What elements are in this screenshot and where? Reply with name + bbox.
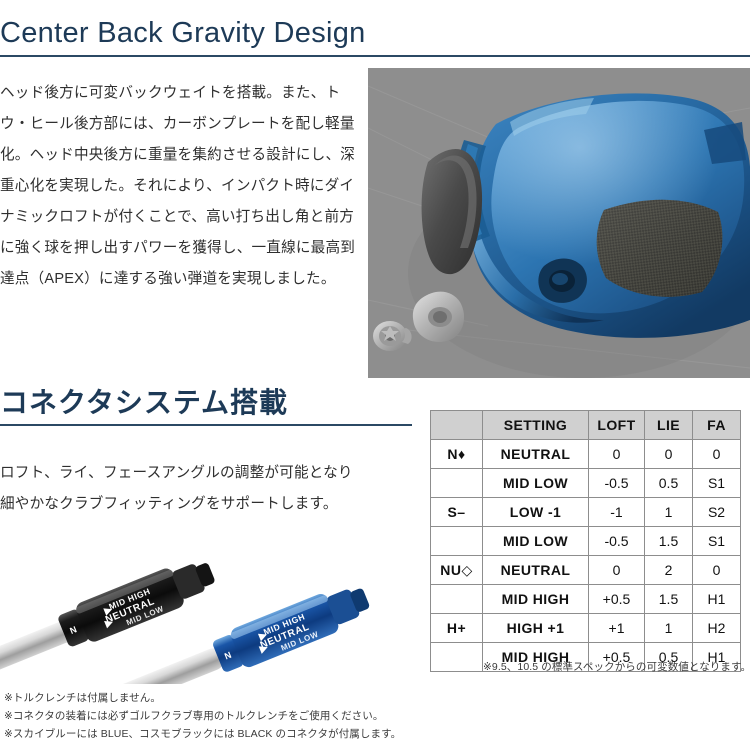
- header-fa: FA: [693, 411, 741, 440]
- cell-setting: NEUTRAL: [483, 556, 589, 585]
- heading-divider: [0, 424, 412, 426]
- footnote-item: ※コネクタの装着には必ずゴルフクラブ専用のトルクレンチをご使用ください。: [4, 707, 424, 725]
- cell-lie: 0.5: [645, 469, 693, 498]
- header-code: [431, 411, 483, 440]
- header-loft: LOFT: [589, 411, 645, 440]
- cell-fa: S1: [693, 527, 741, 556]
- table-row: H+ HIGH +1 +1 1 H2: [431, 614, 741, 643]
- cell-lie: 1.5: [645, 527, 693, 556]
- cell-loft: 0: [589, 556, 645, 585]
- footnote-item: ※トルクレンチは付属しません。: [4, 689, 424, 707]
- cell-loft: -0.5: [589, 527, 645, 556]
- cell-setting: LOW -1: [483, 498, 589, 527]
- cell-fa: S2: [693, 498, 741, 527]
- cell-code: [431, 585, 483, 614]
- connector-sleeves-image: MID HIGH NEUTRAL MID LOW N MID HIGH NEUT…: [0, 512, 420, 684]
- loft-lie-fa-spec-table: SETTING LOFT LIE FA N♦ NEUTRAL 0 0 0 MID…: [430, 410, 741, 672]
- page-title: Center Back Gravity Design: [0, 18, 750, 48]
- cell-setting: MID LOW: [483, 469, 589, 498]
- cell-code: NU◇: [431, 556, 483, 585]
- cell-fa: H1: [693, 585, 741, 614]
- connector-system-title: コネクタシステム搭載: [0, 388, 412, 417]
- cell-setting: MID HIGH: [483, 585, 589, 614]
- cell-loft: +0.5: [589, 585, 645, 614]
- table-row: S– LOW -1 -1 1 S2: [431, 498, 741, 527]
- table-header-row: SETTING LOFT LIE FA: [431, 411, 741, 440]
- cell-code: S–: [431, 498, 483, 527]
- table-row: MID HIGH +0.5 1.5 H1: [431, 585, 741, 614]
- section-heading-connector-system: コネクタシステム搭載: [0, 388, 412, 426]
- cell-fa: S1: [693, 469, 741, 498]
- table-row: N♦ NEUTRAL 0 0 0: [431, 440, 741, 469]
- footnote-item: ※スカイブルーには BLUE、コスモブラックには BLACK のコネクタが付属し…: [4, 725, 424, 743]
- spec-table-note: ※9.5、10.5 の標準スペックからの可変数値となります。: [483, 659, 750, 674]
- cell-lie: 0: [645, 440, 693, 469]
- cell-code: [431, 527, 483, 556]
- table-row: NU◇ NEUTRAL 0 2 0: [431, 556, 741, 585]
- cell-lie: 2: [645, 556, 693, 585]
- center-back-gravity-description: ヘッド後方に可変バックウェイトを搭載。また、トウ・ヒール後方部には、カーボンプレ…: [0, 78, 358, 295]
- cell-lie: 1.5: [645, 585, 693, 614]
- cell-setting: MID LOW: [483, 527, 589, 556]
- cell-fa: 0: [693, 440, 741, 469]
- connector-system-description: ロフト、ライ、フェースアングルの調整が可能となり細やかなクラブフィッティングをサ…: [0, 458, 358, 520]
- cell-code: [431, 643, 483, 672]
- table-row: MID LOW -0.5 1.5 S1: [431, 527, 741, 556]
- cell-code: H+: [431, 614, 483, 643]
- driver-head-render-image: [368, 68, 750, 378]
- cell-fa: 0: [693, 556, 741, 585]
- spec-table-container: SETTING LOFT LIE FA N♦ NEUTRAL 0 0 0 MID…: [430, 410, 740, 672]
- cell-setting: HIGH +1: [483, 614, 589, 643]
- cell-setting: NEUTRAL: [483, 440, 589, 469]
- section-heading-center-back-gravity: Center Back Gravity Design: [0, 18, 750, 57]
- footnote-list: ※トルクレンチは付属しません。 ※コネクタの装着には必ずゴルフクラブ専用のトルク…: [4, 689, 424, 743]
- table-row: MID LOW -0.5 0.5 S1: [431, 469, 741, 498]
- weight-port-inner: [552, 273, 568, 285]
- cell-loft: 0: [589, 440, 645, 469]
- cell-loft: -0.5: [589, 469, 645, 498]
- cell-loft: +1: [589, 614, 645, 643]
- driver-head-illustration: [368, 68, 750, 378]
- cell-fa: H2: [693, 614, 741, 643]
- carbon-weave-shade: [597, 200, 723, 297]
- connector-illustration: MID HIGH NEUTRAL MID LOW N MID HIGH NEUT…: [0, 512, 420, 684]
- cell-loft: -1: [589, 498, 645, 527]
- header-lie: LIE: [645, 411, 693, 440]
- cell-code: [431, 469, 483, 498]
- cell-code: N♦: [431, 440, 483, 469]
- header-setting: SETTING: [483, 411, 589, 440]
- heading-divider: [0, 55, 750, 57]
- cell-lie: 1: [645, 498, 693, 527]
- weight-bracket-hole-inner: [433, 311, 447, 323]
- cell-lie: 1: [645, 614, 693, 643]
